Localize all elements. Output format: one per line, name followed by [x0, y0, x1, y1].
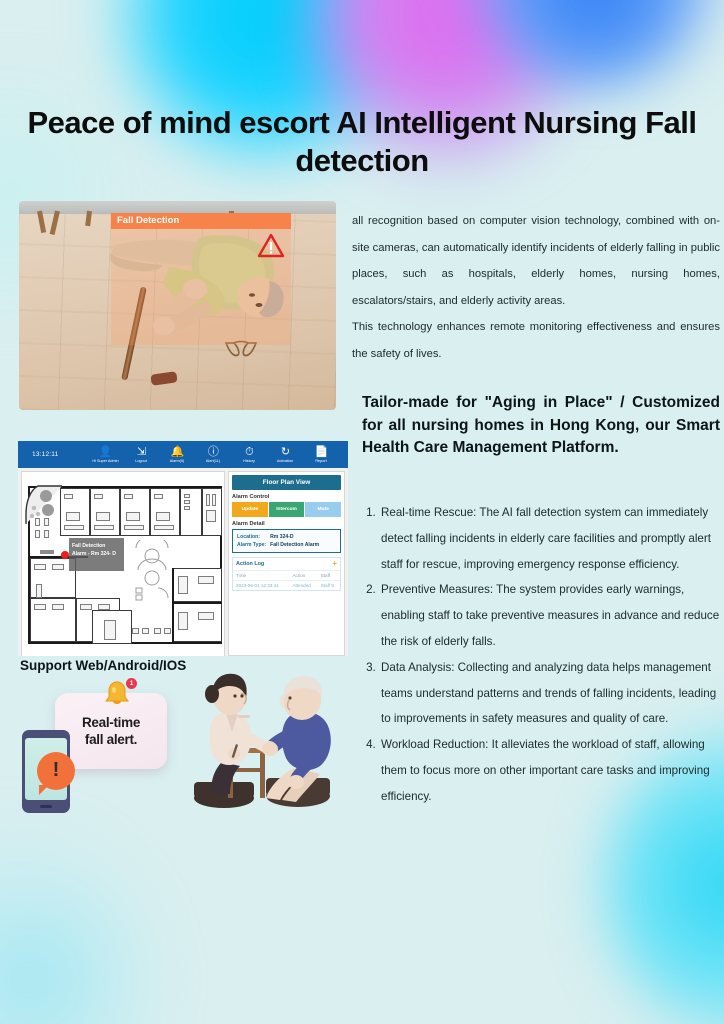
action-log-table: Time Action Staff 2023-06-01 12:33:44 At…	[233, 570, 340, 590]
alarm-control-heading: Alarm Control	[232, 494, 341, 500]
floor-plan-view-button[interactable]: Floor Plan View	[232, 475, 341, 490]
update-button[interactable]: Update	[232, 502, 268, 517]
alert-card-line2: fall alert.	[85, 732, 137, 747]
cell-time: 2023-06-01 12:33:44	[233, 581, 289, 591]
toolbar-item-activation[interactable]: ↻ Activation	[272, 446, 298, 464]
toolbar-item-setting[interactable]: ⚙ Setting	[344, 446, 348, 464]
toolbar-item-report[interactable]: 📄 Report	[308, 446, 334, 464]
toolbar-item-logout[interactable]: ⇲ Logout	[128, 446, 154, 464]
background-blob-cyan-bottom-left	[0, 830, 150, 1024]
alarm-detail-labels: Location: Alarm Type:	[237, 533, 266, 549]
exclamation-bubble-icon: !	[37, 752, 75, 790]
nurse-and-patient-illustration	[186, 670, 344, 820]
fall-detection-bounding-box: Fall Detection	[111, 213, 291, 345]
action-log-header: Action Log +	[233, 558, 340, 570]
info-icon: ⓘ	[200, 446, 226, 458]
intro-paragraph-2: This technology enhances remote monitori…	[352, 314, 720, 367]
alarm-detail-box: Location: Alarm Type: Rm 324-D Fall Dete…	[232, 529, 341, 553]
gear-icon: ⚙	[344, 446, 348, 458]
column-action: Action	[289, 571, 317, 581]
realtime-alert-illustration: Real-time fall alert. 1 !	[18, 682, 188, 820]
toolbar-label: Activation	[273, 458, 298, 464]
dashboard-right-panel: Floor Plan View Alarm Control Update Int…	[228, 471, 345, 656]
clock-time: 13:12:11	[32, 451, 58, 458]
toolbar-label: Alert(11)	[201, 458, 226, 464]
alarm-control-buttons: Update Intercom Mute	[232, 502, 341, 517]
dashboard-toolbar: 👤 Hi Super Admin ⇲ Logout 🔔 Alarm(9) ⓘ A…	[92, 446, 348, 464]
intro-paragraph-1: all recognition based on computer vision…	[352, 208, 720, 314]
intercom-button[interactable]: Intercom	[269, 502, 305, 517]
cell-action: Attended	[289, 581, 317, 591]
section-subheading: Tailor-made for "Aging in Place" / Custo…	[362, 392, 720, 460]
warning-triangle-icon	[257, 233, 285, 259]
benefits-list: Real-time Rescue: The AI fall detection …	[360, 500, 722, 810]
support-platforms-label: Support Web/Android/IOS	[20, 658, 186, 673]
toolbar-label: History	[237, 458, 262, 464]
toolbar-label: Report	[309, 458, 334, 464]
toolbar-item-alarm[interactable]: 🔔 Alarm(9)	[164, 446, 190, 464]
alarm-detail-heading: Alarm Detail	[232, 521, 341, 527]
toolbar-item-history[interactable]: ⏱ History	[236, 446, 262, 464]
toolbar-label: Alarm(9)	[165, 458, 190, 464]
dashboard-body: Fall Detection Alarm - Rm 324- D Floor P…	[18, 468, 348, 656]
table-header-row: Time Action Staff	[233, 571, 340, 581]
toolbar-label: Hi Super Admin	[93, 458, 118, 464]
bell-badge-count: 1	[126, 678, 137, 689]
cell-staff: Staff 9	[318, 581, 340, 591]
history-clock-icon: ⏱	[236, 446, 262, 458]
action-log-title: Action Log	[236, 561, 264, 567]
phone-home-indicator	[40, 805, 52, 808]
list-item: Workload Reduction: It alleviates the wo…	[379, 732, 722, 809]
column-time: Time	[233, 571, 289, 581]
alarm-location-marker[interactable]	[61, 551, 69, 559]
toolbar-label: Logout	[129, 458, 154, 464]
location-label: Location:	[237, 533, 266, 541]
refresh-icon: ↻	[272, 446, 298, 458]
toolbar-item-user[interactable]: 👤 Hi Super Admin	[92, 446, 118, 464]
logout-icon: ⇲	[128, 446, 154, 458]
list-item: Data Analysis: Collecting and analyzing …	[379, 655, 722, 732]
toolbar-label: Setting	[345, 458, 348, 464]
list-item: Real-time Rescue: The AI fall detection …	[379, 500, 722, 577]
alert-card-text: Real-time fall alert.	[82, 714, 140, 748]
page-title: Peace of mind escort AI Intelligent Nurs…	[0, 104, 724, 180]
exclamation-mark: !	[53, 760, 60, 780]
user-icon: 👤	[92, 446, 118, 458]
nursing-dashboard-screenshot: 13:12:11 👤 Hi Super Admin ⇲ Logout 🔔 Ala…	[18, 441, 348, 656]
fall-detection-photo: Fall Detection	[19, 201, 336, 410]
intro-paragraphs: all recognition based on computer vision…	[352, 208, 720, 367]
mute-button[interactable]: Mute	[305, 502, 341, 517]
alert-card-line1: Real-time	[82, 715, 140, 730]
fall-detection-label: Fall Detection	[111, 213, 291, 229]
floor-plan-map[interactable]: Fall Detection Alarm - Rm 324- D	[21, 471, 225, 656]
alarm-type-label: Alarm Type:	[237, 541, 266, 549]
document-icon: 📄	[308, 446, 334, 458]
column-staff: Staff	[318, 571, 340, 581]
action-log-panel: Action Log + Time Action Staff 2023-06-0…	[232, 557, 341, 591]
alarm-type-value: Fall Detection Alarm	[270, 541, 319, 549]
alarm-detail-values: Rm 324-D Fall Detection Alarm	[270, 533, 319, 549]
location-value: Rm 324-D	[270, 533, 319, 541]
table-row[interactable]: 2023-06-01 12:33:44 Attended Staff 9	[233, 581, 340, 591]
bell-icon: 🔔	[164, 446, 190, 458]
dashboard-topbar: 13:12:11 👤 Hi Super Admin ⇲ Logout 🔔 Ala…	[18, 441, 348, 468]
add-action-icon[interactable]: +	[332, 560, 337, 568]
alarm-tooltip: Fall Detection Alarm - Rm 324- D	[69, 538, 124, 571]
list-item: Preventive Measures: The system provides…	[379, 577, 722, 654]
toolbar-item-alert[interactable]: ⓘ Alert(11)	[200, 446, 226, 464]
